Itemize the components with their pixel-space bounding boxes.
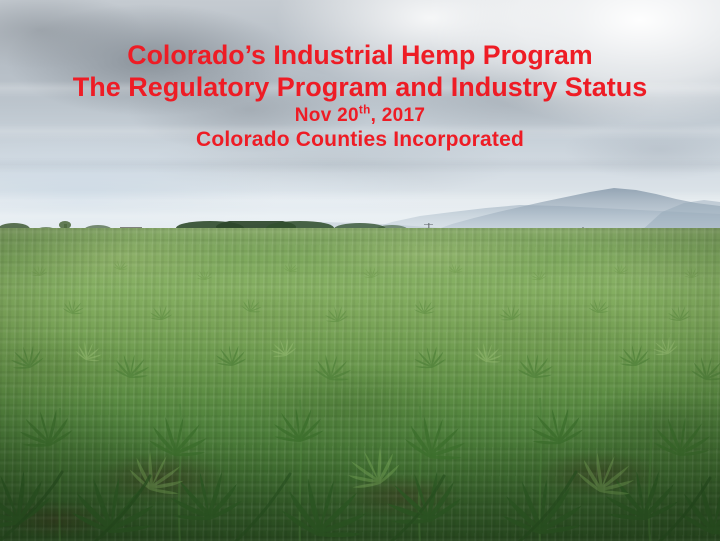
title-line-program: Colorado’s Industrial Hemp Program xyxy=(4,42,717,70)
presentation-slide: Colorado’s Industrial Hemp Program The R… xyxy=(0,0,720,541)
title-line-date: Nov 20th, 2017 xyxy=(0,106,720,125)
date-prefix: Nov 20 xyxy=(295,105,359,126)
title-line-subtitle: The Regulatory Program and Industry Stat… xyxy=(0,74,720,102)
slide-title-block: Colorado’s Industrial Hemp Program The R… xyxy=(0,42,720,151)
hemp-field xyxy=(0,228,720,541)
title-line-organization: Colorado Counties Incorporated xyxy=(0,129,720,150)
field-vignette xyxy=(0,228,720,541)
date-ordinal-suffix: th xyxy=(359,104,371,117)
date-year: , 2017 xyxy=(371,105,426,126)
